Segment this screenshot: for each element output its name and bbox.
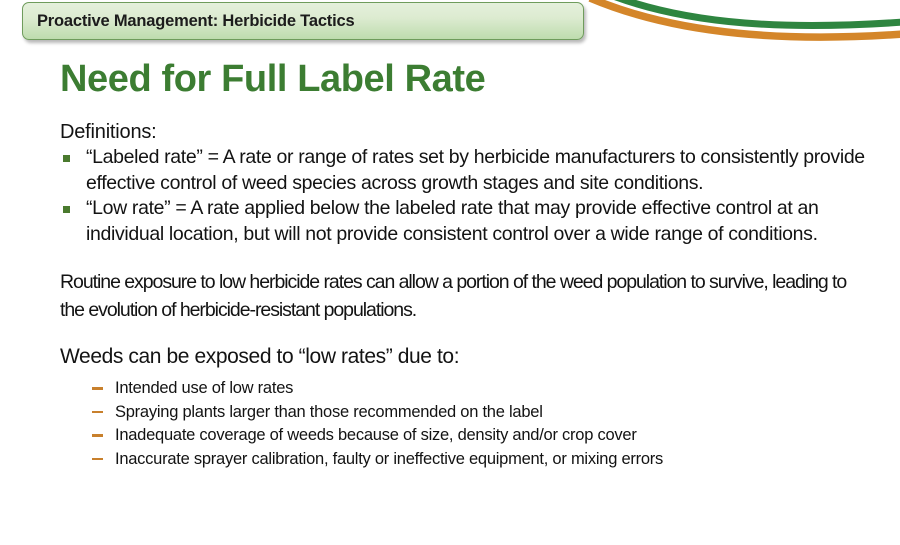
exposure-list: Intended use of low rates Spraying plant… <box>60 377 870 471</box>
slide-canvas: Proactive Management: Herbicide Tactics … <box>0 0 900 545</box>
page-title: Need for Full Label Rate <box>60 58 485 101</box>
resistance-paragraph: Routine exposure to low herbicide rates … <box>60 268 860 324</box>
square-bullet-icon <box>63 155 70 162</box>
swoosh-green-curve <box>608 0 900 26</box>
exposure-heading: Weeds can be exposed to “low rates” due … <box>60 344 870 370</box>
section-banner: Proactive Management: Herbicide Tactics <box>22 2 584 40</box>
definition-item-text: “Labeled rate” = A rate or range of rate… <box>86 146 865 194</box>
definitions-list: “Labeled rate” = A rate or range of rate… <box>60 145 870 247</box>
definition-item: “Labeled rate” = A rate or range of rate… <box>60 145 870 196</box>
decorative-swoosh-graphic <box>560 0 900 46</box>
section-banner-label: Proactive Management: Herbicide Tactics <box>23 12 354 31</box>
definitions-heading: Definitions: <box>60 120 870 145</box>
definition-item: “Low rate” = A rate applied below the la… <box>60 196 870 247</box>
dash-bullet-icon <box>92 434 103 437</box>
exposure-item: Spraying plants larger than those recomm… <box>60 401 870 425</box>
dash-bullet-icon <box>92 387 103 390</box>
exposure-item: Inaccurate sprayer calibration, faulty o… <box>60 448 870 472</box>
dash-bullet-icon <box>92 411 103 414</box>
slide-body: Definitions: “Labeled rate” = A rate or … <box>60 120 870 471</box>
square-bullet-icon <box>63 206 70 213</box>
definition-item-text: “Low rate” = A rate applied below the la… <box>86 197 819 245</box>
exposure-item-text: Intended use of low rates <box>115 379 293 397</box>
exposure-item-text: Spraying plants larger than those recomm… <box>115 403 543 421</box>
swoosh-orange-curve <box>590 0 900 37</box>
exposure-item: Intended use of low rates <box>60 377 870 401</box>
exposure-item-text: Inaccurate sprayer calibration, faulty o… <box>115 450 663 468</box>
exposure-item-text: Inadequate coverage of weeds because of … <box>115 426 637 444</box>
exposure-item: Inadequate coverage of weeds because of … <box>60 424 870 448</box>
dash-bullet-icon <box>92 458 103 461</box>
